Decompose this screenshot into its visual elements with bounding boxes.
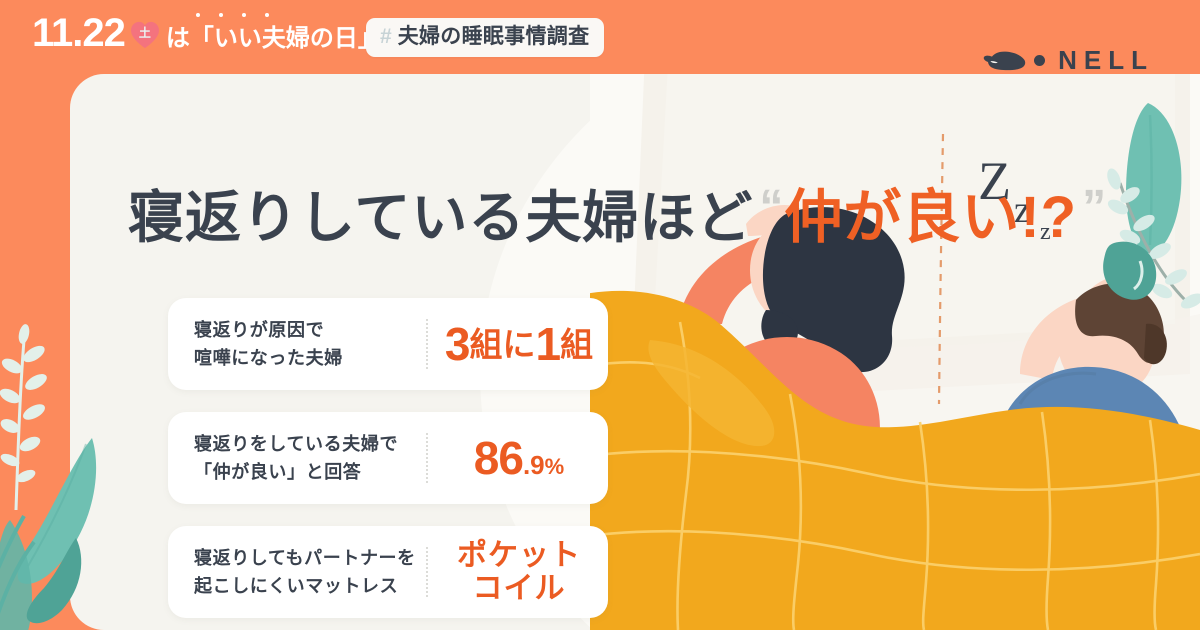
stat-card: 寝返りをしている夫婦で 「仲が良い」と回答 86 .9 % (168, 412, 608, 504)
leaf-decoration-right (1100, 95, 1200, 395)
hashtag-label: 夫婦の睡眠事情調査 (398, 25, 590, 49)
stat-card-label-line1: 寝返りが原因で (194, 316, 426, 344)
page-title: 寝返りしている夫婦ほど “ 仲が良い!? ” (128, 178, 1200, 258)
card-divider (426, 547, 428, 597)
leaf-decoration-left (0, 320, 130, 630)
nell-logo[interactable]: NELL (983, 46, 1154, 74)
stat-card-label-line2: 喧嘩になった夫婦 (194, 344, 426, 372)
dot-icon (1034, 55, 1045, 66)
emphasis-dots (196, 13, 269, 17)
stat-card-value: ポケット コイル (430, 539, 608, 605)
stat-card-label-line1: 寝返りしてもパートナーを (194, 544, 426, 572)
stat-card-value: 86 .9 % (430, 435, 608, 481)
logo-wordmark: NELL (1058, 46, 1154, 74)
tapir-icon (983, 48, 1027, 72)
stat-card-label: 寝返りが原因で 喧嘩になった夫婦 (168, 316, 426, 372)
date-number: 11.22 (32, 11, 125, 55)
card-divider (426, 433, 428, 483)
hash-icon: # (380, 25, 392, 49)
stat-card-label: 寝返りしてもパートナーを 起こしにくいマットレス (168, 544, 426, 600)
stat-value-unit: % (545, 456, 565, 478)
stat-value-part: 組 (560, 328, 593, 361)
heart-icon: 土 (130, 21, 160, 49)
quote-open-icon: “ (759, 184, 781, 232)
stat-value-part: 3 (445, 321, 470, 367)
stat-card-list: 寝返りが原因で 喧嘩になった夫婦 3 組に 1 組 寝返りをしている夫婦で 「仲… (168, 298, 608, 630)
date-block: 11.22 土 は「いい夫婦の日」 (32, 11, 382, 55)
stat-value-part: 組に (470, 328, 536, 361)
stat-card: 寝返りが原因で 喧嘩になった夫婦 3 組に 1 組 (168, 298, 608, 390)
stat-card: 寝返りしてもパートナーを 起こしにくいマットレス ポケット コイル (168, 526, 608, 618)
stat-value-line2: コイル (457, 572, 581, 605)
stat-value-twoline: ポケット コイル (457, 539, 581, 605)
content-panel: Z z z (70, 74, 1200, 630)
date-suffix: は「いい夫婦の日」 (166, 24, 382, 54)
stat-value-part: 1 (536, 321, 561, 367)
infographic-canvas: Z z z (0, 0, 1200, 630)
stat-value-part: 86 (474, 435, 523, 481)
stat-card-label-line1: 寝返りをしている夫婦で (194, 430, 426, 458)
stat-value-line1: ポケット (457, 539, 581, 572)
headline-lead: 寝返りしている夫婦ほど (128, 185, 753, 251)
date-weekday: 土 (130, 26, 160, 40)
stat-card-label-line2: 「仲が良い」と回答 (194, 458, 426, 486)
stat-value-part: .9 (523, 452, 545, 478)
headline-accent: 仲が良い!? (784, 185, 1077, 251)
hashtag-badge[interactable]: # 夫婦の睡眠事情調査 (366, 18, 604, 57)
stat-card-label-line2: 起こしにくいマットレス (194, 572, 426, 600)
card-divider (426, 319, 428, 369)
stat-card-label: 寝返りをしている夫婦で 「仲が良い」と回答 (168, 430, 426, 486)
header-bar: 11.22 土 は「いい夫婦の日」 # 夫婦の睡眠事情調査 (0, 0, 1200, 74)
stat-card-value: 3 組に 1 組 (430, 321, 608, 367)
